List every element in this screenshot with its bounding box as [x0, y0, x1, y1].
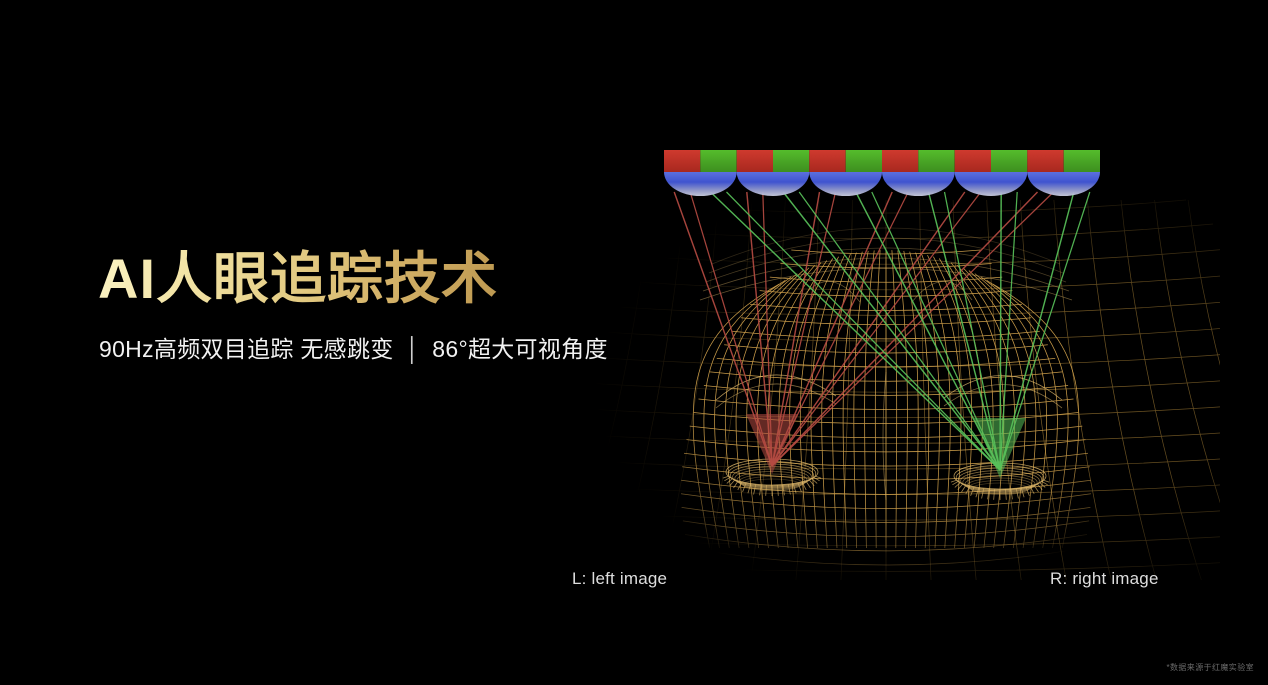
head-feature-ridges [700, 228, 1072, 500]
eye-convergence-markers [746, 414, 1026, 478]
subtitle-separator: │ [394, 336, 433, 362]
ray-bundle-left-eye [674, 192, 1053, 466]
page-title: AI人眼追踪技术 [98, 248, 498, 310]
caption-right-image: R: right image [1050, 569, 1159, 589]
lenticular-lens-array [664, 150, 1100, 196]
caption-left-image: L: left image [572, 569, 667, 589]
ray-bundle-right-eye [711, 192, 1090, 470]
subtitle-spec-viewangle: 86°超大可视角度 [432, 336, 607, 362]
page-subtitle: 90Hz高频双目追踪 无感跳变│86°超大可视角度 [99, 330, 608, 364]
slide-root: AI人眼追踪技术 90Hz高频双目追踪 无感跳变│86°超大可视角度 L: le… [0, 0, 1268, 685]
footnote-disclaimer: *数据来源于红魔实验室 [1166, 662, 1254, 673]
head-wireframe-mesh [681, 250, 1091, 565]
subtitle-spec-refresh: 90Hz高频双目追踪 无感跳变 [99, 336, 394, 362]
